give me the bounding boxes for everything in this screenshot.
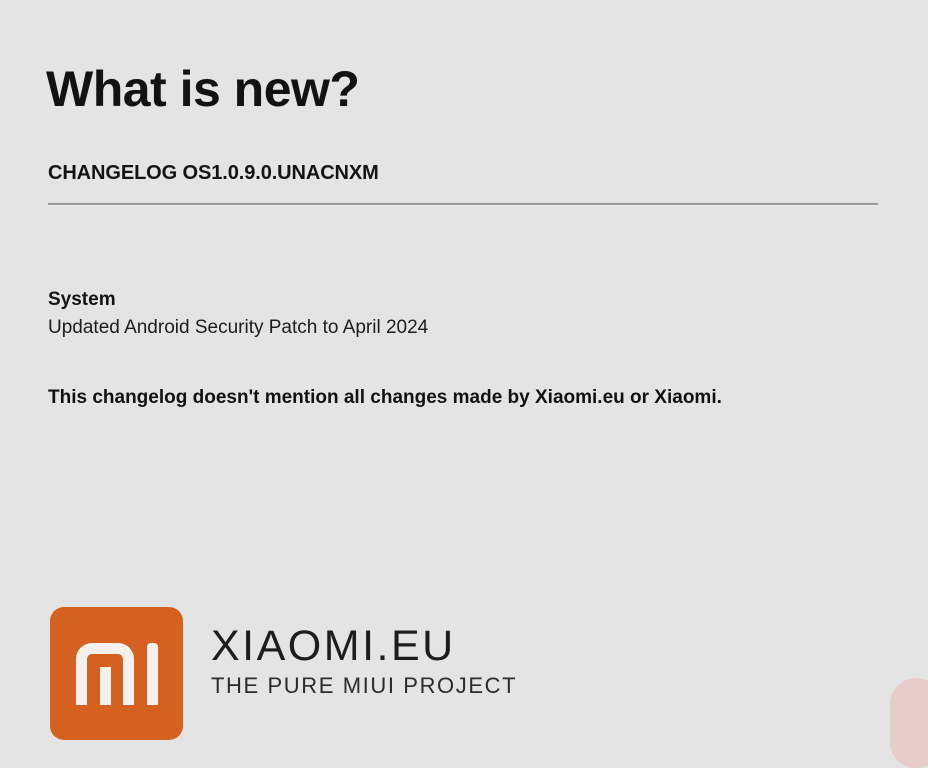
edge-artifact-shape (890, 678, 928, 768)
changelog-version-header: CHANGELOG OS1.0.9.0.UNACNXM (48, 160, 379, 186)
section-heading: System (48, 287, 428, 313)
mi-glyph (76, 643, 158, 705)
brand-tagline: THE PURE MIUI PROJECT (211, 673, 517, 699)
header-divider (48, 203, 878, 206)
section-system: System Updated Android Security Patch to… (48, 287, 428, 341)
brand-name: XIAOMI.EU (211, 623, 517, 669)
disclaimer-text: This changelog doesn't mention all chang… (48, 381, 848, 414)
xiaomi-mi-logo-icon (50, 607, 183, 740)
changelog-page: What is new? CHANGELOG OS1.0.9.0.UNACNXM… (0, 0, 928, 750)
section-line: Updated Android Security Patch to April … (48, 315, 428, 341)
page-title: What is new? (46, 58, 359, 120)
mi-letter-i (147, 643, 158, 705)
brand-footer: XIAOMI.EU THE PURE MIUI PROJECT (50, 607, 517, 740)
brand-text-block: XIAOMI.EU THE PURE MIUI PROJECT (211, 607, 517, 699)
mi-letter-m-stem (100, 667, 111, 705)
